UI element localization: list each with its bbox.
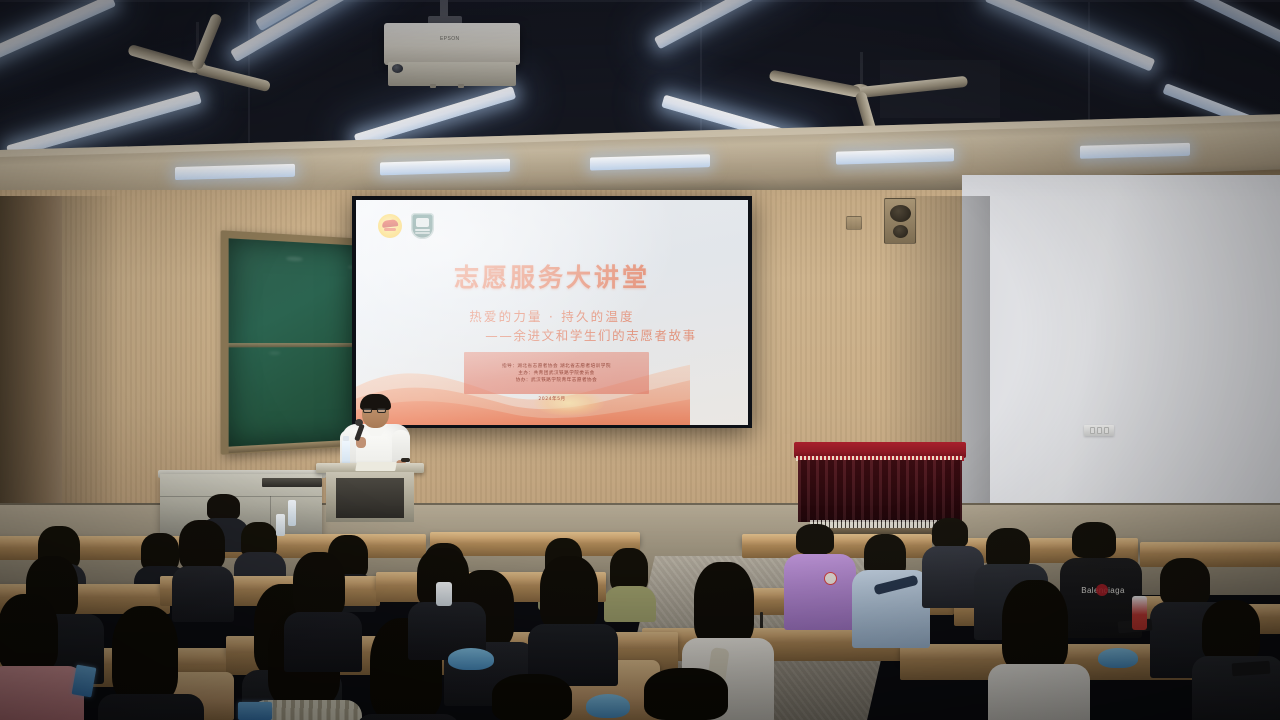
water-bottle — [436, 582, 452, 606]
desk-item-blue — [448, 648, 494, 670]
volunteer-emblem-logo — [378, 214, 402, 238]
projection-screen: 志愿服务大讲堂 热爱的力量 · 持久的温度 ——余进文和学生们的志愿者故事 指导… — [352, 196, 752, 428]
wall-speaker — [884, 198, 916, 244]
ceiling-light-tube — [590, 154, 710, 170]
slide-organizer-box: 指导：湖北省志愿者协会 湖北省志愿者培训学院 主办：共青团武汉铁路学院委员会 协… — [464, 352, 649, 394]
slide-title: 志愿服务大讲堂 — [356, 258, 748, 294]
water-bottle — [288, 500, 296, 526]
wall-light-switch[interactable] — [1084, 425, 1114, 436]
slide-date: 2024年5月 — [356, 396, 748, 402]
ceiling-light-tube — [380, 159, 510, 176]
beverage-bottle — [1132, 596, 1147, 630]
slide-subtitle-primary: 热爱的力量 · 持久的温度 — [356, 306, 748, 325]
slide-subtitle-secondary: ——余进文和学生们的志愿者故事 — [356, 325, 748, 344]
wall-speaker — [846, 216, 862, 230]
organizer-line: 指导：湖北省志愿者协会 湖北省志愿者培训学院 — [502, 363, 611, 369]
phone-on-desk[interactable] — [1232, 661, 1271, 677]
ceiling-light-tube — [1080, 143, 1190, 159]
smartphone-screen[interactable] — [238, 702, 272, 720]
water-bottle — [276, 514, 285, 536]
slide-logos — [378, 213, 434, 239]
ceiling-projector: EPSON — [378, 0, 530, 104]
presenter-wristwatch — [401, 458, 410, 462]
slide-content: 志愿服务大讲堂 热爱的力量 · 持久的温度 ——余进文和学生们的志愿者故事 指导… — [356, 200, 748, 425]
glasses-icon — [363, 408, 388, 413]
school-shield-logo — [411, 213, 434, 239]
desk-item-blue — [1098, 648, 1138, 668]
ceiling-light-tube — [836, 148, 954, 164]
projector-lens-icon — [392, 64, 403, 73]
desk-item-blue — [586, 694, 630, 718]
tee-graphic-dot — [1096, 584, 1108, 596]
shirt-graphic — [824, 572, 837, 585]
av-rack-slot — [262, 478, 322, 487]
organizer-line: 主办：共青团武汉铁路学院委员会 — [518, 370, 594, 376]
projector-brand-label: EPSON — [440, 36, 460, 42]
smartphone-screen[interactable] — [72, 664, 97, 697]
lecture-hall-photo: EPSON — [0, 0, 1280, 720]
ceiling-light-tube — [175, 164, 295, 180]
organizer-line: 协办：武汉铁路学院青年志愿者协会 — [516, 377, 598, 383]
ceiling-fan-left — [118, 22, 278, 102]
printed-notes — [355, 462, 397, 471]
ceiling-fan-right — [760, 52, 980, 122]
